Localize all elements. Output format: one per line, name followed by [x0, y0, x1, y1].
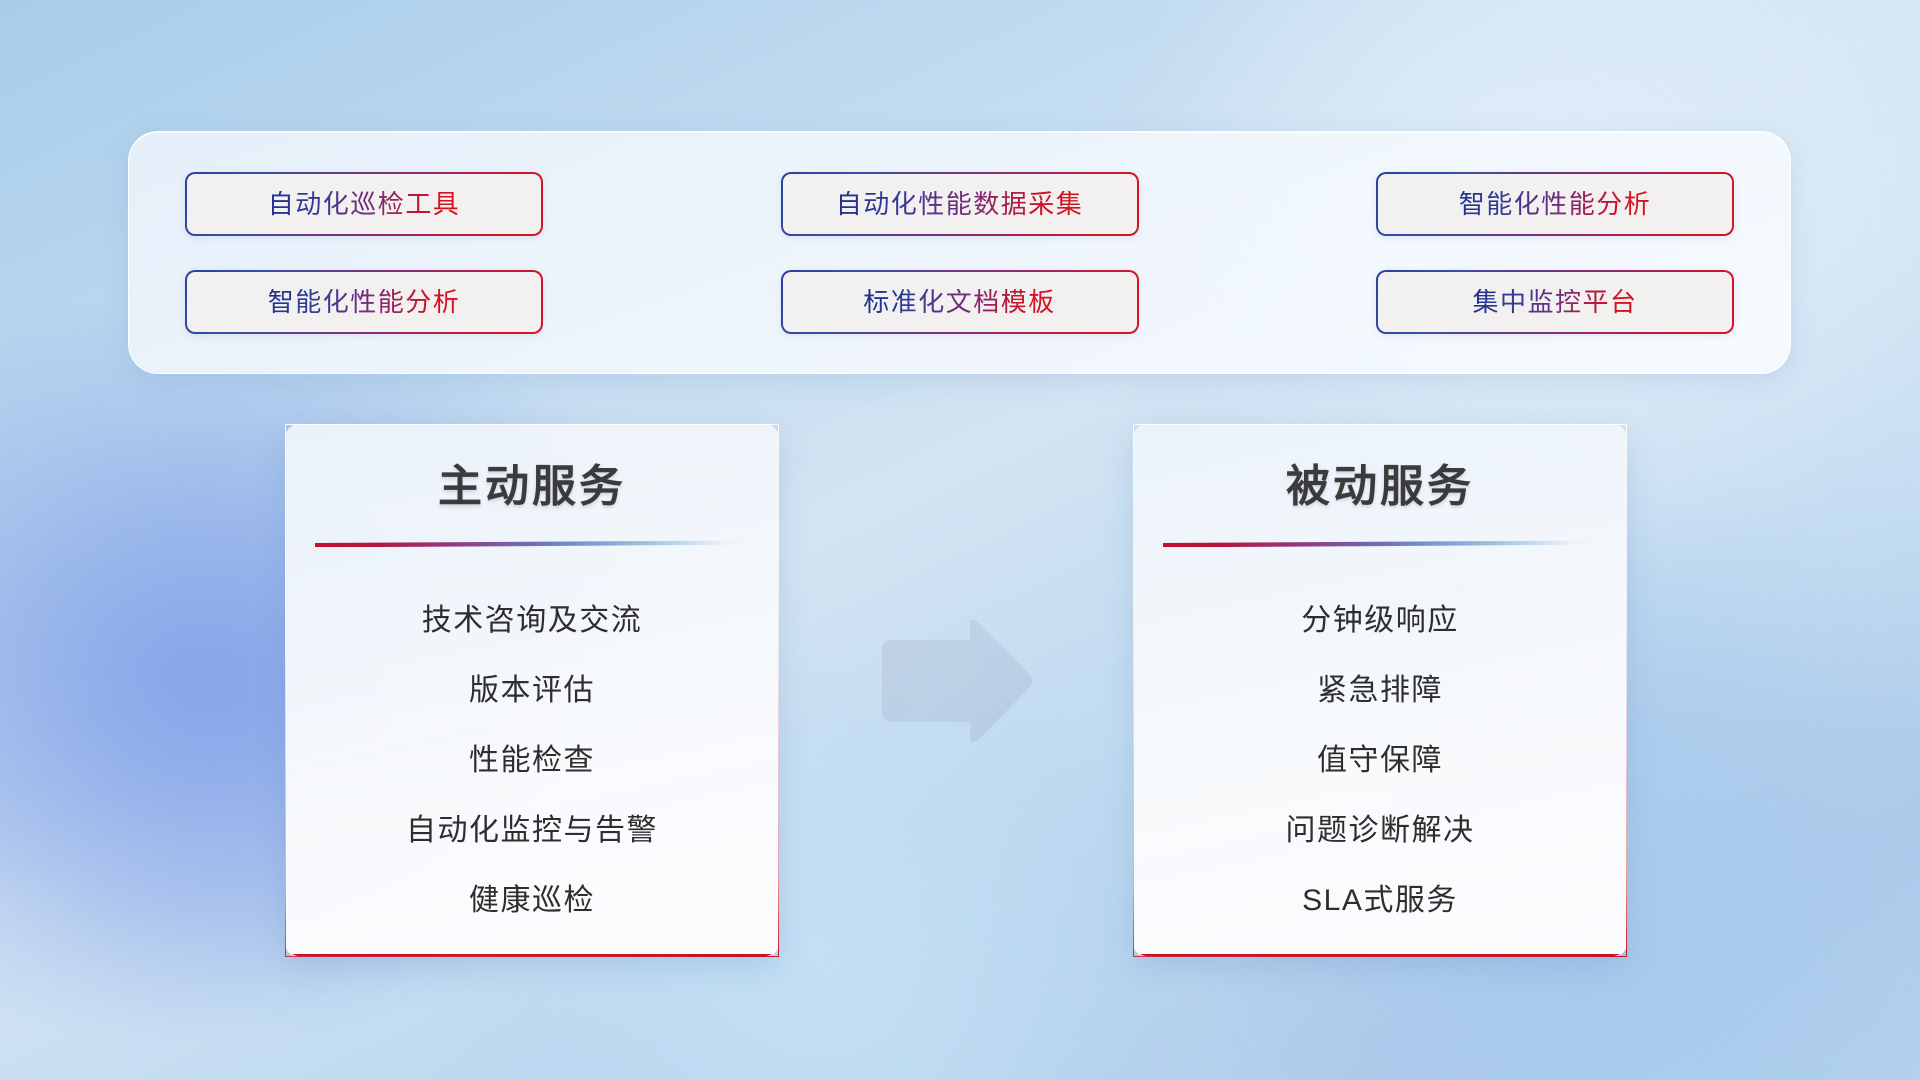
list-item: 问题诊断解决 — [1286, 796, 1475, 866]
card-list: 技术咨询及交流 版本评估 性能检查 自动化监控与告警 健康巡检 — [286, 586, 778, 936]
list-item: 健康巡检 — [469, 866, 595, 936]
arrow-right-icon — [874, 620, 1034, 744]
capability-pill-auto-inspection-tool[interactable]: 自动化巡检工具 — [185, 172, 543, 236]
service-card-reactive: 被动服务 分钟级响应 紧急排障 值守保障 问题诊断解决 SLA式服务 — [1133, 424, 1627, 957]
card-list: 分钟级响应 紧急排障 值守保障 问题诊断解决 SLA式服务 — [1134, 586, 1626, 936]
list-item: 值守保障 — [1317, 726, 1443, 796]
capability-pill-auto-perf-collection[interactable]: 自动化性能数据采集 — [781, 172, 1139, 236]
slide-canvas: 自动化巡检工具 自动化性能数据采集 智能化性能分析 智能化性能分析 标准化文档模… — [0, 0, 1920, 1080]
capability-pill-standard-doc-template[interactable]: 标准化文档模板 — [781, 270, 1139, 334]
capability-row-2: 智能化性能分析 标准化文档模板 集中监控平台 — [185, 270, 1734, 334]
card-divider — [1163, 540, 1597, 550]
capabilities-panel: 自动化巡检工具 自动化性能数据采集 智能化性能分析 智能化性能分析 标准化文档模… — [128, 131, 1791, 374]
card-title: 主动服务 — [438, 463, 626, 511]
list-item: SLA式服务 — [1302, 866, 1458, 936]
list-item: 技术咨询及交流 — [422, 586, 643, 656]
card-divider — [315, 540, 749, 550]
list-item: 自动化监控与告警 — [406, 796, 658, 866]
capability-pill-label: 智能化性能分析 — [1459, 191, 1652, 217]
card-title: 被动服务 — [1286, 463, 1474, 511]
capability-pill-smart-perf-analysis-2[interactable]: 智能化性能分析 — [185, 270, 543, 334]
service-card-proactive: 主动服务 技术咨询及交流 版本评估 性能检查 自动化监控与告警 健康巡检 — [285, 424, 779, 957]
capability-pill-smart-perf-analysis[interactable]: 智能化性能分析 — [1376, 172, 1734, 236]
capability-pill-label: 智能化性能分析 — [268, 289, 461, 315]
list-item: 紧急排障 — [1317, 656, 1443, 726]
capability-pill-label: 标准化文档模板 — [863, 289, 1056, 315]
capability-pill-label: 集中监控平台 — [1472, 289, 1637, 315]
capability-pill-label: 自动化巡检工具 — [268, 191, 461, 217]
list-item: 分钟级响应 — [1301, 586, 1459, 656]
list-item: 性能检查 — [469, 726, 595, 796]
capability-pill-central-monitoring[interactable]: 集中监控平台 — [1376, 270, 1734, 334]
capability-row-1: 自动化巡检工具 自动化性能数据采集 智能化性能分析 — [185, 172, 1734, 236]
list-item: 版本评估 — [469, 656, 595, 726]
capability-pill-label: 自动化性能数据采集 — [836, 191, 1084, 217]
